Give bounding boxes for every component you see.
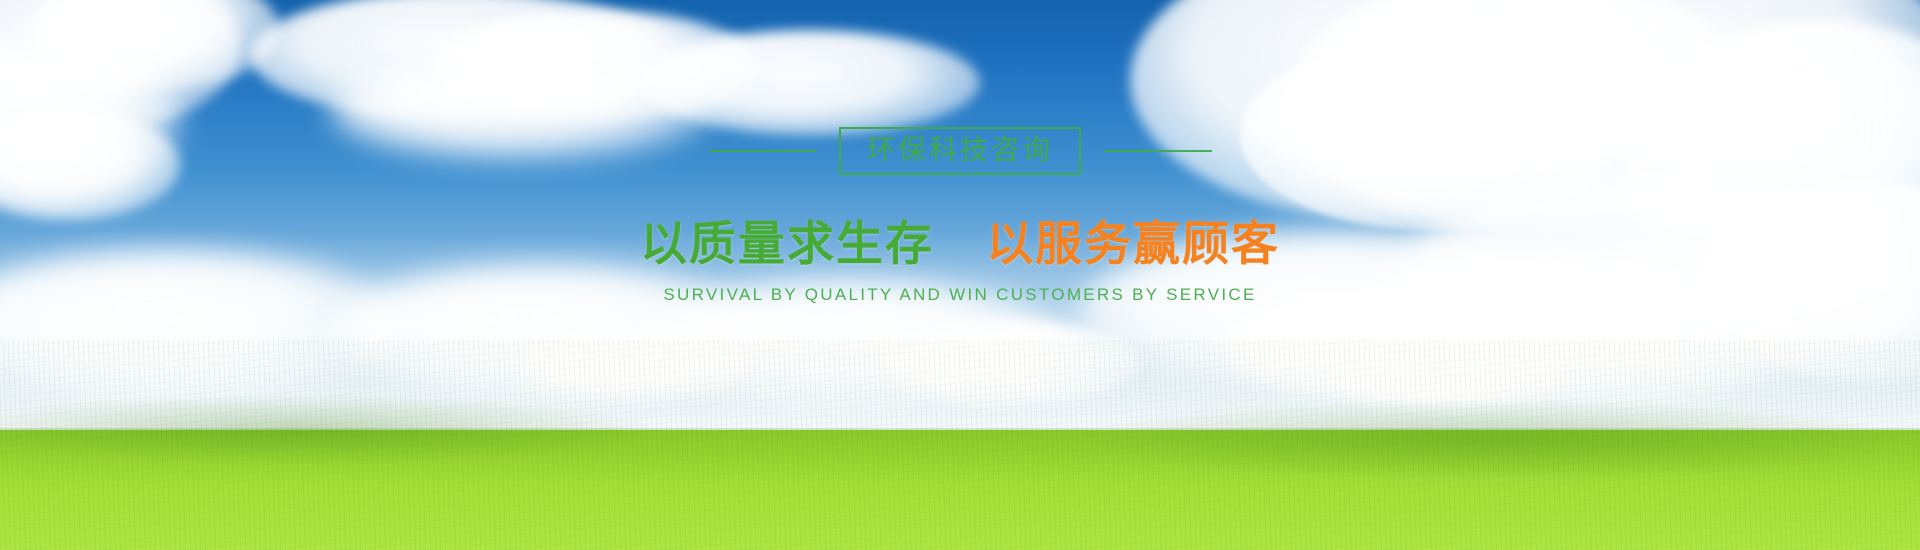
- headline-orange-text: 以服务赢顾客: [986, 217, 1280, 270]
- eyebrow-label: 环保科技咨询: [867, 134, 1053, 165]
- hero-banner: 环保科技咨询 以质量求生存 以服务赢顾客 SURVIVAL BY QUALITY…: [0, 0, 1920, 550]
- subtitle-text: SURVIVAL BY QUALITY AND WIN CUSTOMERS BY…: [0, 285, 1920, 305]
- headline-green-text: 以质量求生存: [640, 217, 934, 270]
- decorative-line-right-icon: [1104, 150, 1212, 152]
- eyebrow-box: 环保科技咨询: [839, 127, 1081, 175]
- eyebrow-row: 环保科技咨询: [0, 127, 1920, 175]
- grass-field-shadow: [0, 428, 1920, 483]
- headline: 以质量求生存 以服务赢顾客: [0, 216, 1920, 272]
- decorative-line-left-icon: [708, 150, 816, 152]
